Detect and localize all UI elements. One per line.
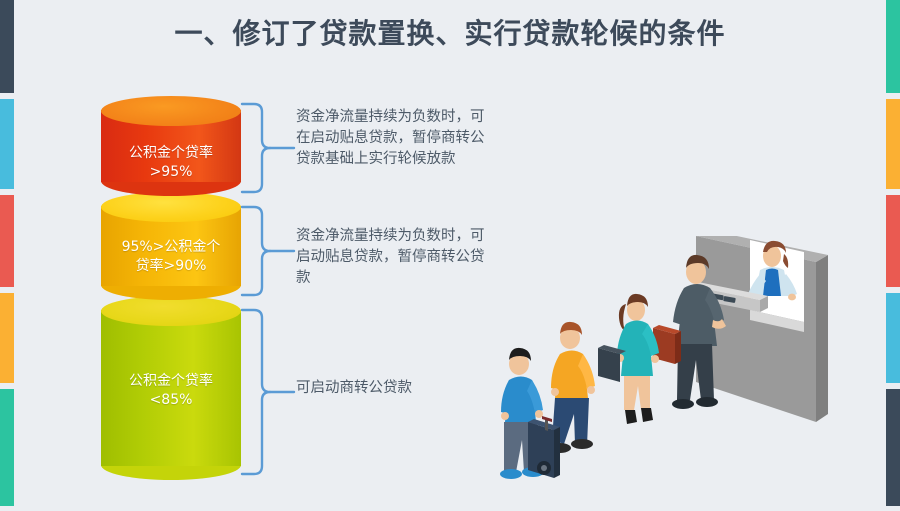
note-text-2: 资金净流量持续为负数时，可启动贴息贷款，暂停商转公贷款 <box>296 226 486 289</box>
page-title: 一、修订了贷款置换、实行贷款轮候的条件 <box>0 12 900 52</box>
strip-segment-orange <box>886 99 900 189</box>
brace-connector-2 <box>240 203 300 303</box>
bank-counter-illustration <box>498 236 858 506</box>
edge-strip-left <box>0 0 14 506</box>
slide-canvas: 一、修订了贷款置换、实行贷款轮候的条件 公积金个贷率 <85% 95%>公积金个… <box>0 0 900 506</box>
cylinder-middle-cap <box>101 192 241 222</box>
cylinder-stack: 公积金个贷率 <85% 95%>公积金个 贷率>90% 公积金个贷率 >95% <box>101 96 241 480</box>
cylinder-top: 公积金个贷率 >95% <box>101 96 241 196</box>
strip-segment-red <box>886 195 900 287</box>
strip-segment-dark <box>886 389 900 506</box>
note-text-1: 资金净流量持续为负数时，可在启动贴息贷款，暂停商转公贷款基础上实行轮候放款 <box>296 107 486 170</box>
note-text-3: 可启动商转公贷款 <box>296 378 486 399</box>
cylinder-middle: 95%>公积金个 贷率>90% <box>101 192 241 300</box>
brace-connector-1 <box>240 100 300 200</box>
person-teal-dress <box>598 294 659 424</box>
strip-segment-blue <box>0 99 14 189</box>
strip-segment-teal <box>0 389 14 506</box>
person-blue-shirt <box>500 348 560 479</box>
cylinder-bottom-label: 公积金个贷率 <85% <box>101 372 241 410</box>
cylinder-middle-label: 95%>公积金个 贷率>90% <box>101 238 241 276</box>
strip-segment-orange <box>0 293 14 383</box>
cylinder-top-label: 公积金个贷率 >95% <box>101 144 241 182</box>
brace-connector-3 <box>240 306 300 482</box>
strip-segment-red <box>0 195 14 287</box>
strip-segment-blue <box>886 293 900 383</box>
cylinder-top-cap <box>101 96 241 126</box>
edge-strip-right <box>886 0 900 506</box>
cylinder-bottom-cap <box>101 296 241 326</box>
cylinder-bottom: 公积金个贷率 <85% <box>101 296 241 480</box>
